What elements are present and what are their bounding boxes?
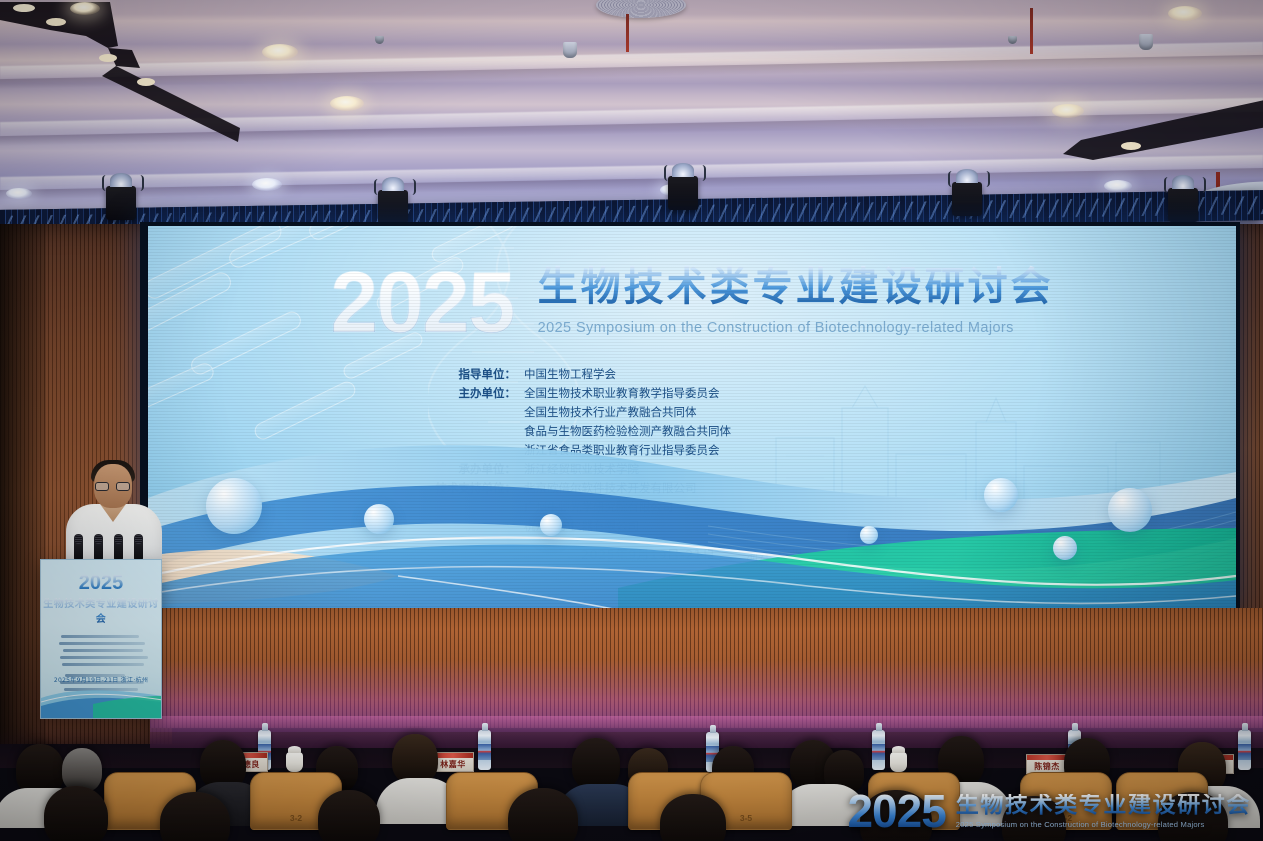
screen-hero: 2025 生物技术类专业建设研讨会 2025 Symposium on the … — [148, 254, 1236, 342]
ceiling-downlight — [6, 188, 32, 199]
watermark-title-cn: 生物技术类专业建设研讨会 — [956, 794, 1251, 817]
decorative-sphere — [540, 514, 562, 536]
stage-spotlight — [952, 182, 982, 216]
microphone — [114, 534, 123, 560]
ceiling-downlight — [1104, 180, 1132, 192]
podium-lectern: 2025 生物技术类专业建设研讨会 2025年9月19日-21日 浙江·杭州 — [40, 559, 162, 719]
watermark-logo: 2025 生物技术类专业建设研讨会 2025 Symposium on the … — [847, 791, 1251, 831]
ceiling-downlight — [262, 44, 298, 60]
microphone — [94, 534, 103, 560]
ceiling-beam-right — [1053, 96, 1263, 166]
podium-date: 2025年9月19日-21日 浙江·杭州 — [41, 675, 161, 684]
decorative-sphere — [1108, 488, 1152, 532]
decorative-sphere — [206, 478, 262, 534]
sprinkler-head-icon — [1008, 36, 1017, 44]
stage-spotlight — [668, 176, 698, 210]
sprinkler-pipe — [626, 14, 629, 52]
podium-title-cn: 生物技术类专业建设研讨会 — [41, 595, 161, 625]
audience-head — [44, 786, 108, 841]
watermark-title-en: 2025 Symposium on the Construction of Bi… — [956, 820, 1251, 829]
decorative-sphere — [1053, 536, 1077, 560]
decorative-sphere — [984, 478, 1018, 512]
stage-spotlight — [106, 186, 136, 220]
ceiling-downlight — [330, 96, 364, 111]
screen-title-cn: 生物技术类专业建设研讨会 — [538, 254, 1054, 312]
sprinkler-pipe — [1030, 8, 1033, 54]
sprinkler-head-icon — [563, 42, 577, 58]
ceiling-air-diffuser — [596, 0, 686, 18]
screen-wave-graphics — [148, 380, 1236, 610]
ceiling-downlight — [1052, 104, 1084, 118]
microphone — [134, 534, 143, 560]
conference-hall-photo: 2025 生物技术类专业建设研讨会 2025 Symposium on the … — [0, 0, 1263, 841]
screen-year: 2025 — [330, 265, 519, 342]
stage-spotlight — [378, 190, 408, 224]
sprinkler-head-icon — [1139, 34, 1153, 50]
decorative-sphere — [860, 526, 878, 544]
ceiling-downlight — [70, 2, 100, 15]
led-screen[interactable]: 2025 生物技术类专业建设研讨会 2025 Symposium on the … — [148, 226, 1236, 610]
microphone — [74, 534, 83, 560]
podium-wave-graphic — [41, 684, 162, 718]
podium-year: 2025 — [41, 572, 161, 595]
watermark-year: 2025 — [847, 791, 945, 831]
audience-head — [160, 792, 230, 841]
audience-head — [318, 790, 380, 841]
glasses-icon — [94, 482, 132, 491]
stage-spotlight — [1168, 188, 1198, 222]
screen-title-en: 2025 Symposium on the Construction of Bi… — [538, 320, 1054, 336]
ceiling-downlight — [1168, 6, 1202, 21]
sprinkler-head-icon — [375, 36, 384, 44]
decorative-sphere — [364, 504, 394, 534]
audience-head — [660, 794, 726, 841]
ceiling-downlight — [252, 178, 282, 191]
audience-head — [508, 788, 578, 841]
